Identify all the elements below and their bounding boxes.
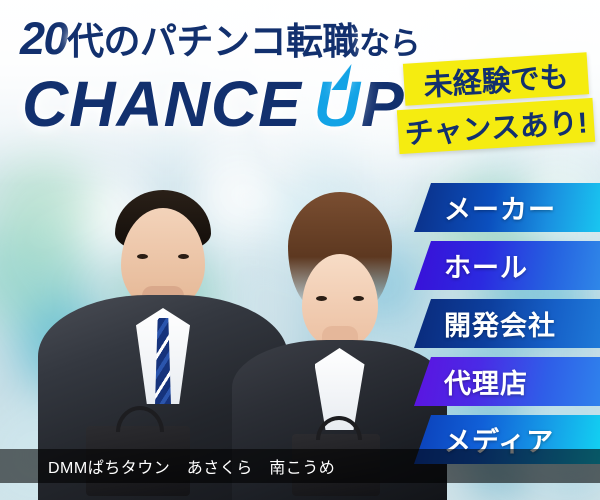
logo-up-u: U <box>314 68 361 140</box>
headline-main: 代のパチンコ転職 <box>67 21 359 62</box>
category-agency-label: 代理店 <box>444 362 528 401</box>
category-list: メーカー ホール 開発会社 代理店 メディア <box>414 183 600 473</box>
category-maker[interactable]: メーカー <box>414 183 600 232</box>
chance-up-logo: CHANCEUP <box>22 72 405 136</box>
category-agency[interactable]: 代理店 <box>414 357 600 406</box>
category-developer[interactable]: 開発会社 <box>414 299 600 348</box>
category-maker-label: メーカー <box>444 188 556 227</box>
logo-chance-word: CHANCE <box>22 68 302 140</box>
credit-text: DMMぱちタウン あさくら 南こうめ <box>48 454 335 478</box>
credit-bar: DMMぱちタウン あさくら 南こうめ <box>0 449 600 483</box>
category-hall-label: ホール <box>444 246 528 285</box>
category-developer-label: 開発会社 <box>444 304 556 343</box>
recruitment-banner: 20代のパチンコ転職なら CHANCEUP 未経験でも チャンスあり! メーカー… <box>0 0 600 500</box>
headline-number: 20 <box>20 13 67 64</box>
headline-suffix: なら <box>359 26 420 61</box>
headline: 20代のパチンコ転職なら <box>20 16 420 61</box>
category-hall[interactable]: ホール <box>414 241 600 290</box>
